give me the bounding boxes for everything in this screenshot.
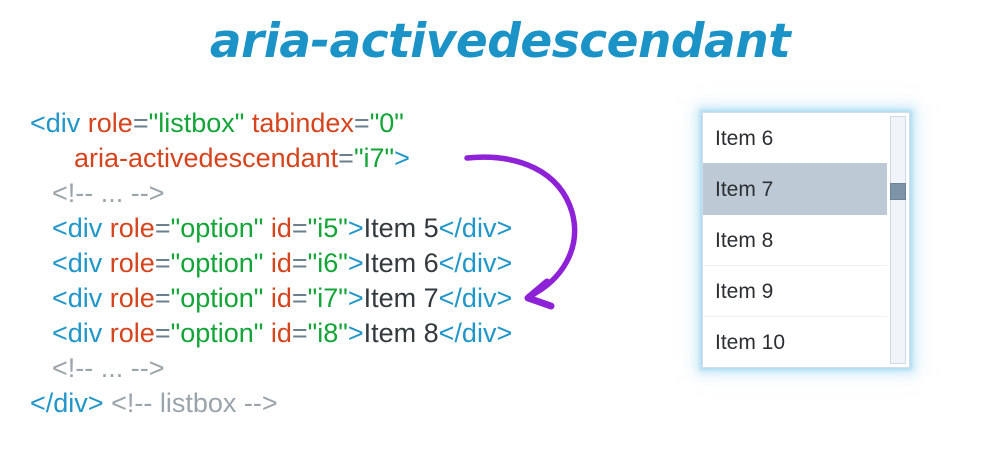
code-token-tag: </div> [439,248,513,278]
listbox-option[interactable]: Item 7 [703,164,887,215]
code-token-tag: </div> [439,318,513,348]
code-token-attr: id [271,248,292,278]
code-token-attr: id [271,213,292,243]
listbox[interactable]: Item 6Item 7Item 8Item 9Item 10 [702,112,910,368]
code-line: </div> <!-- listbox --> [30,386,512,421]
code-snippet: <div role="listbox" tabindex="0"aria-act… [30,106,512,421]
code-token-attr: role [110,283,155,313]
code-token-attr: role [110,318,155,348]
code-token-eq: = [155,248,171,278]
code-token-tag: > [348,318,364,348]
code-token-txt [263,318,271,348]
listbox-widget[interactable]: Item 6Item 7Item 8Item 9Item 10 [702,112,910,368]
code-token-attr: tabindex [252,108,354,138]
code-token-eq: = [155,213,171,243]
code-token-tag: </div> [439,283,513,313]
code-token-tag: </div> [439,213,513,243]
code-token-eq: = [292,213,308,243]
code-token-txt: Item 7 [364,283,439,313]
code-line: <div role="option" id="i7">Item 7</div> [30,281,512,316]
code-token-txt [244,108,252,138]
code-token-tag: > [348,248,364,278]
code-token-val: "option" [171,213,264,243]
code-token-attr: id [271,318,292,348]
listbox-option[interactable]: Item 6 [703,113,887,164]
listbox-options: Item 6Item 7Item 8Item 9Item 10 [703,113,887,367]
code-token-eq: = [133,108,149,138]
code-token-val: "option" [171,318,264,348]
code-line: <div role="option" id="i6">Item 6</div> [30,246,512,281]
code-token-val: "i8" [308,318,348,348]
code-token-val: "i7" [354,143,394,173]
code-token-attr: role [110,213,155,243]
code-line: <div role="listbox" tabindex="0" [30,106,512,141]
code-token-tag: <div [30,108,88,138]
code-line: <div role="option" id="i5">Item 5</div> [30,211,512,246]
code-token-tag: <div [52,283,110,313]
code-line: <!-- ... --> [30,176,512,211]
slide-canvas: aria-activedescendant <div role="listbox… [0,0,1000,462]
code-token-tag: <div [52,213,110,243]
code-line: <!-- ... --> [30,351,512,386]
code-token-tag: <div [52,248,110,278]
scrollbar-track[interactable] [890,116,906,364]
code-token-attr: role [110,248,155,278]
code-token-val: "i5" [308,213,348,243]
scrollbar-thumb[interactable] [890,183,906,200]
code-token-eq: = [292,248,308,278]
code-token-com: <!-- listbox --> [111,388,278,418]
code-token-eq: = [155,283,171,313]
code-token-txt [263,213,271,243]
code-token-val: "option" [171,283,264,313]
listbox-option[interactable]: Item 8 [703,215,887,266]
code-token-eq: = [354,108,370,138]
code-token-attr: role [88,108,133,138]
code-token-val: "listbox" [149,108,245,138]
code-token-com: <!-- ... --> [52,353,165,383]
code-token-val: "i6" [308,248,348,278]
code-token-tag: > [394,143,410,173]
code-token-val: "i7" [308,283,348,313]
code-token-txt: Item 8 [364,318,439,348]
code-token-txt [263,248,271,278]
code-line: aria-activedescendant="i7"> [30,141,512,176]
code-token-attr: id [271,283,292,313]
code-token-tag: </div> [30,388,111,418]
code-token-tag: <div [52,318,110,348]
code-token-txt [263,283,271,313]
code-token-val: "0" [370,108,404,138]
code-token-txt: Item 5 [364,213,439,243]
listbox-option[interactable]: Item 10 [703,317,887,368]
code-token-eq: = [292,318,308,348]
listbox-scrollbar[interactable] [887,113,909,367]
code-token-tag: > [348,213,364,243]
code-token-com: <!-- ... --> [52,178,165,208]
code-token-txt: Item 6 [364,248,439,278]
code-token-eq: = [155,318,171,348]
listbox-option[interactable]: Item 9 [703,266,887,317]
page-title: aria-activedescendant [0,14,1000,69]
code-token-eq: = [338,143,354,173]
code-line: <div role="option" id="i8">Item 8</div> [30,316,512,351]
code-token-attr: aria-activedescendant [74,143,338,173]
code-token-val: "option" [171,248,264,278]
code-token-tag: > [348,283,364,313]
code-token-eq: = [292,283,308,313]
